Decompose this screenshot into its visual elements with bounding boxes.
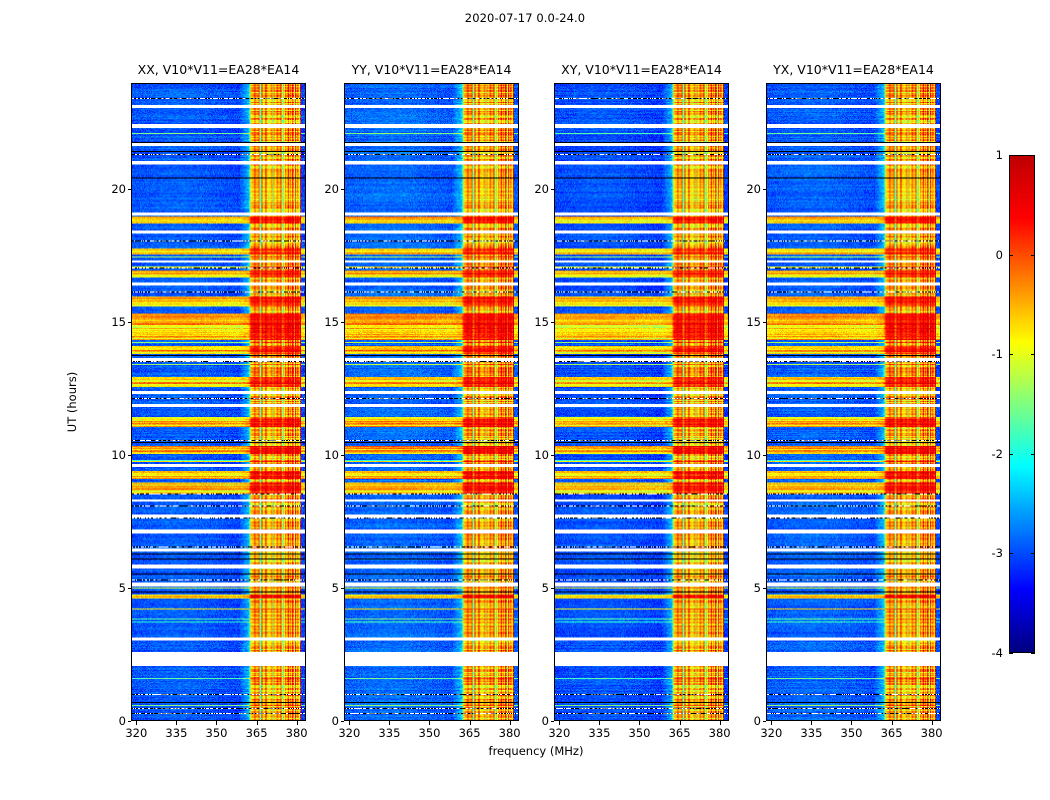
waterfall-image-xy [554,83,729,721]
x-tick-label: 365 [669,726,691,740]
x-tick-label: 320 [760,726,782,740]
waterfall-image-xx [131,83,306,721]
colorbar-tick-label: -1 [992,347,1003,361]
y-tick-mark [551,588,555,589]
x-tick-mark [429,721,430,725]
y-tick-mark [341,588,345,589]
x-tick-label: 320 [125,726,147,740]
x-tick-mark [680,721,681,725]
x-tick-mark [257,721,258,725]
y-tick-label: 15 [111,315,126,329]
x-tick-label: 320 [338,726,360,740]
colorbar: 10-1-2-3-4 [1009,155,1035,653]
y-tick-label: 20 [324,182,339,196]
x-tick-mark [932,721,933,725]
y-tick-mark [341,721,345,722]
x-tick-mark [176,721,177,725]
y-tick-label: 0 [754,714,761,728]
y-tick-mark [551,189,555,190]
x-tick-label: 365 [881,726,903,740]
y-tick-mark [763,322,767,323]
x-tick-label: 350 [419,726,441,740]
x-tick-mark [771,721,772,725]
y-tick-mark [551,455,555,456]
colorbar-tick-label: -4 [992,646,1003,660]
colorbar-tick-mark [1031,454,1035,455]
spectrogram-canvas-xy [555,84,728,720]
x-tick-mark [892,721,893,725]
x-tick-mark [136,721,137,725]
x-tick-label: 380 [709,726,731,740]
colorbar-tick-mark [1009,653,1013,654]
x-tick-mark [510,721,511,725]
subplot-xy: XY, V10*V11=EA28*EA143203353503653800510… [554,83,729,721]
y-tick-label: 0 [119,714,126,728]
x-tick-mark [349,721,350,725]
y-tick-label: 0 [332,714,339,728]
y-tick-mark [128,322,132,323]
colorbar-gradient [1009,155,1035,653]
x-axis-label: frequency (MHz) [131,744,941,758]
x-tick-label: 365 [246,726,268,740]
x-tick-mark [559,721,560,725]
y-tick-label: 15 [534,315,549,329]
figure-suptitle: 2020-07-17 0.0-24.0 [0,11,1050,25]
waterfall-image-yx [766,83,941,721]
y-tick-label: 10 [324,448,339,462]
x-tick-label: 335 [800,726,822,740]
y-tick-label: 5 [119,581,126,595]
y-tick-mark [763,455,767,456]
y-tick-label: 10 [111,448,126,462]
colorbar-tick-mark [1031,553,1035,554]
y-tick-label: 10 [534,448,549,462]
subplot-xx: XX, V10*V11=EA28*EA143203353503653800510… [131,83,306,721]
x-tick-mark [389,721,390,725]
y-tick-label: 0 [542,714,549,728]
y-tick-mark [341,189,345,190]
y-tick-label: 20 [534,182,549,196]
spectrogram-canvas-yy [345,84,518,720]
colorbar-tick-mark [1009,354,1013,355]
y-tick-label: 5 [542,581,549,595]
x-tick-mark [470,721,471,725]
y-tick-mark [551,322,555,323]
colorbar-tick-label: 0 [996,248,1003,262]
subplot-yy: YY, V10*V11=EA28*EA143203353503653800510… [344,83,519,721]
x-tick-label: 380 [286,726,308,740]
y-tick-mark [128,588,132,589]
y-tick-label: 10 [746,448,761,462]
subplot-title-xx: XX, V10*V11=EA28*EA14 [138,62,300,77]
x-tick-label: 335 [378,726,400,740]
x-tick-mark [216,721,217,725]
x-tick-label: 365 [459,726,481,740]
colorbar-tick-mark [1009,255,1013,256]
y-tick-label: 15 [746,315,761,329]
x-tick-label: 335 [165,726,187,740]
y-tick-mark [128,455,132,456]
y-tick-label: 5 [754,581,761,595]
colorbar-tick-label: 1 [996,148,1003,162]
y-tick-mark [128,189,132,190]
colorbar-tick-label: -3 [992,546,1003,560]
y-tick-mark [341,455,345,456]
x-tick-label: 335 [588,726,610,740]
y-tick-label: 20 [746,182,761,196]
colorbar-tick-label: -2 [992,447,1003,461]
subplot-yx: YX, V10*V11=EA28*EA143203353503653800510… [766,83,941,721]
colorbar-tick-mark [1031,255,1035,256]
colorbar-tick-mark [1031,354,1035,355]
y-tick-label: 15 [324,315,339,329]
x-tick-mark [599,721,600,725]
x-tick-label: 350 [206,726,228,740]
colorbar-tick-mark [1031,653,1035,654]
x-tick-mark [811,721,812,725]
y-tick-mark [763,721,767,722]
spectrogram-canvas-xx [132,84,305,720]
y-tick-label: 5 [332,581,339,595]
colorbar-tick-mark [1009,553,1013,554]
x-tick-label: 380 [921,726,943,740]
subplot-title-yy: YY, V10*V11=EA28*EA14 [352,62,512,77]
y-tick-mark [341,322,345,323]
y-tick-mark [128,721,132,722]
x-tick-mark [720,721,721,725]
y-tick-mark [763,588,767,589]
colorbar-tick-mark [1009,454,1013,455]
x-tick-mark [297,721,298,725]
subplot-title-yx: YX, V10*V11=EA28*EA14 [773,62,934,77]
x-tick-mark [639,721,640,725]
x-tick-label: 350 [629,726,651,740]
x-tick-label: 380 [499,726,521,740]
colorbar-tick-mark [1031,155,1035,156]
x-tick-label: 350 [841,726,863,740]
y-tick-mark [551,721,555,722]
figure-canvas: 2020-07-17 0.0-24.0 XX, V10*V11=EA28*EA1… [0,0,1050,800]
x-tick-mark [851,721,852,725]
y-tick-label: 20 [111,182,126,196]
y-axis-label: UT (hours) [65,372,79,432]
waterfall-image-yy [344,83,519,721]
spectrogram-canvas-yx [767,84,940,720]
colorbar-tick-mark [1009,155,1013,156]
y-tick-mark [763,189,767,190]
x-tick-label: 320 [548,726,570,740]
subplot-title-xy: XY, V10*V11=EA28*EA14 [561,62,722,77]
